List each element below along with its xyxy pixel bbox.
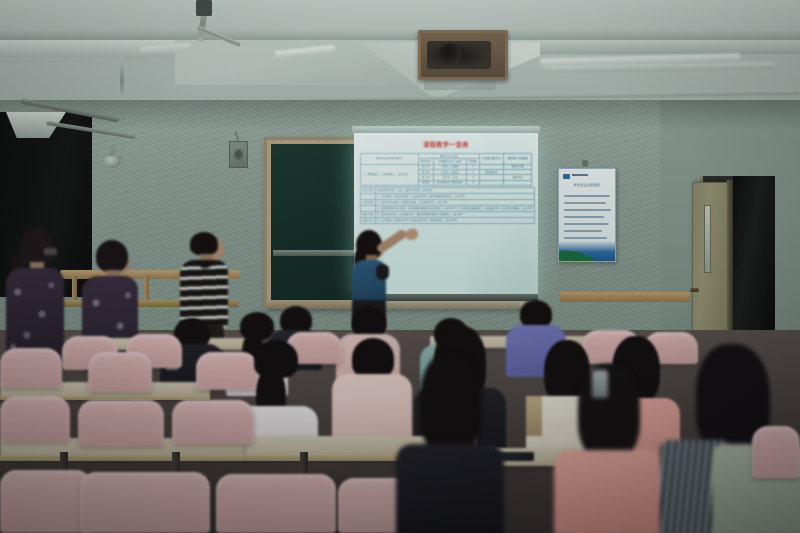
auditorium-chair[interactable] (78, 400, 164, 446)
wooden-bench-right (560, 292, 690, 302)
auditorium-chair[interactable] (0, 470, 92, 533)
slide-assessment-table: 考核 方式 考核说明与方式、方法、成绩评定比例、评分标准 1、平时考勤、作业完成… (360, 187, 535, 224)
auditorium-chair[interactable] (172, 400, 254, 444)
assessment-row: 成绩 评定 6、总评成绩＝过程考核 50%＋期末考核 50%，百分制记分。占比 … (361, 218, 535, 224)
hair (520, 300, 552, 328)
table-cell: 第四章 (418, 180, 433, 185)
student-dark-hair-center (404, 352, 496, 533)
shirt (554, 450, 664, 533)
student-pink-top-right (560, 364, 656, 533)
long-hair (578, 364, 640, 460)
electrical-junction-box (196, 0, 212, 16)
projector-lens-icon (439, 43, 461, 65)
classroom-door[interactable] (692, 182, 730, 342)
auditorium-chair[interactable] (0, 396, 70, 442)
bag-strap (526, 396, 542, 436)
notice-poster: 学生安全注意事项 (558, 168, 616, 262)
blue-top (352, 260, 386, 304)
auditorium-chair[interactable] (80, 472, 210, 533)
hair (96, 240, 128, 272)
ceiling-projector (418, 30, 508, 80)
poster-mount (582, 160, 588, 167)
ceiling-beam-main (0, 0, 800, 42)
table-cell-topics: 一、课程概述 二、基本概念 三、研究方法 (361, 164, 419, 185)
classroom-photo: 课程教学一览表 教学内容 及学时分配 序 教学方法与手段 作业及 课外学习 课程… (0, 0, 800, 533)
table-header-cell: 教学内容 及学时分配 序 (361, 154, 419, 165)
water-bottle[interactable] (592, 370, 608, 398)
table-header-cell: 作业及 课外学习 (479, 154, 504, 165)
assessment-text: 6、总评成绩＝过程考核 50%＋期末考核 50%，百分制记分。占比 100% (375, 218, 535, 224)
shirt (332, 374, 412, 444)
slide-table: 教学内容 及学时分配 序 教学方法与手段 作业及 课外学习 课程目标 考核要求 … (360, 153, 532, 186)
ceiling-pipe-vertical (120, 56, 124, 102)
eyeglasses-icon (44, 248, 57, 255)
wall-speaker-icon (229, 141, 248, 168)
auditorium-chair[interactable] (216, 474, 336, 533)
door-window-icon (704, 205, 711, 273)
auditorium-chair[interactable] (88, 352, 152, 392)
presenter (348, 226, 392, 310)
poster-heading: 学生安全注意事项 (559, 183, 615, 187)
door-frame-edge (727, 180, 733, 340)
door-handle-icon[interactable] (690, 288, 699, 292)
table-cell (504, 180, 532, 185)
hair (352, 338, 394, 378)
student-pink-tee (334, 338, 410, 442)
auditorium-chair[interactable] (0, 348, 62, 388)
table-cell: 任务驱动法 归纳总结法 (433, 180, 466, 185)
auditorium-chair[interactable] (752, 426, 800, 478)
assessment-label: 成绩 评定 (361, 218, 376, 224)
table-cell: 2 (467, 180, 479, 185)
table-cell (479, 180, 504, 185)
shirt (396, 444, 504, 533)
hair (190, 232, 218, 255)
long-hair (420, 352, 482, 456)
slide-title: 课程教学一览表 (360, 140, 532, 149)
poster-wave-graphic (559, 241, 615, 261)
table-header-cell: 课程目标 考核要求 (504, 154, 532, 165)
poster-logo-icon (563, 174, 570, 179)
